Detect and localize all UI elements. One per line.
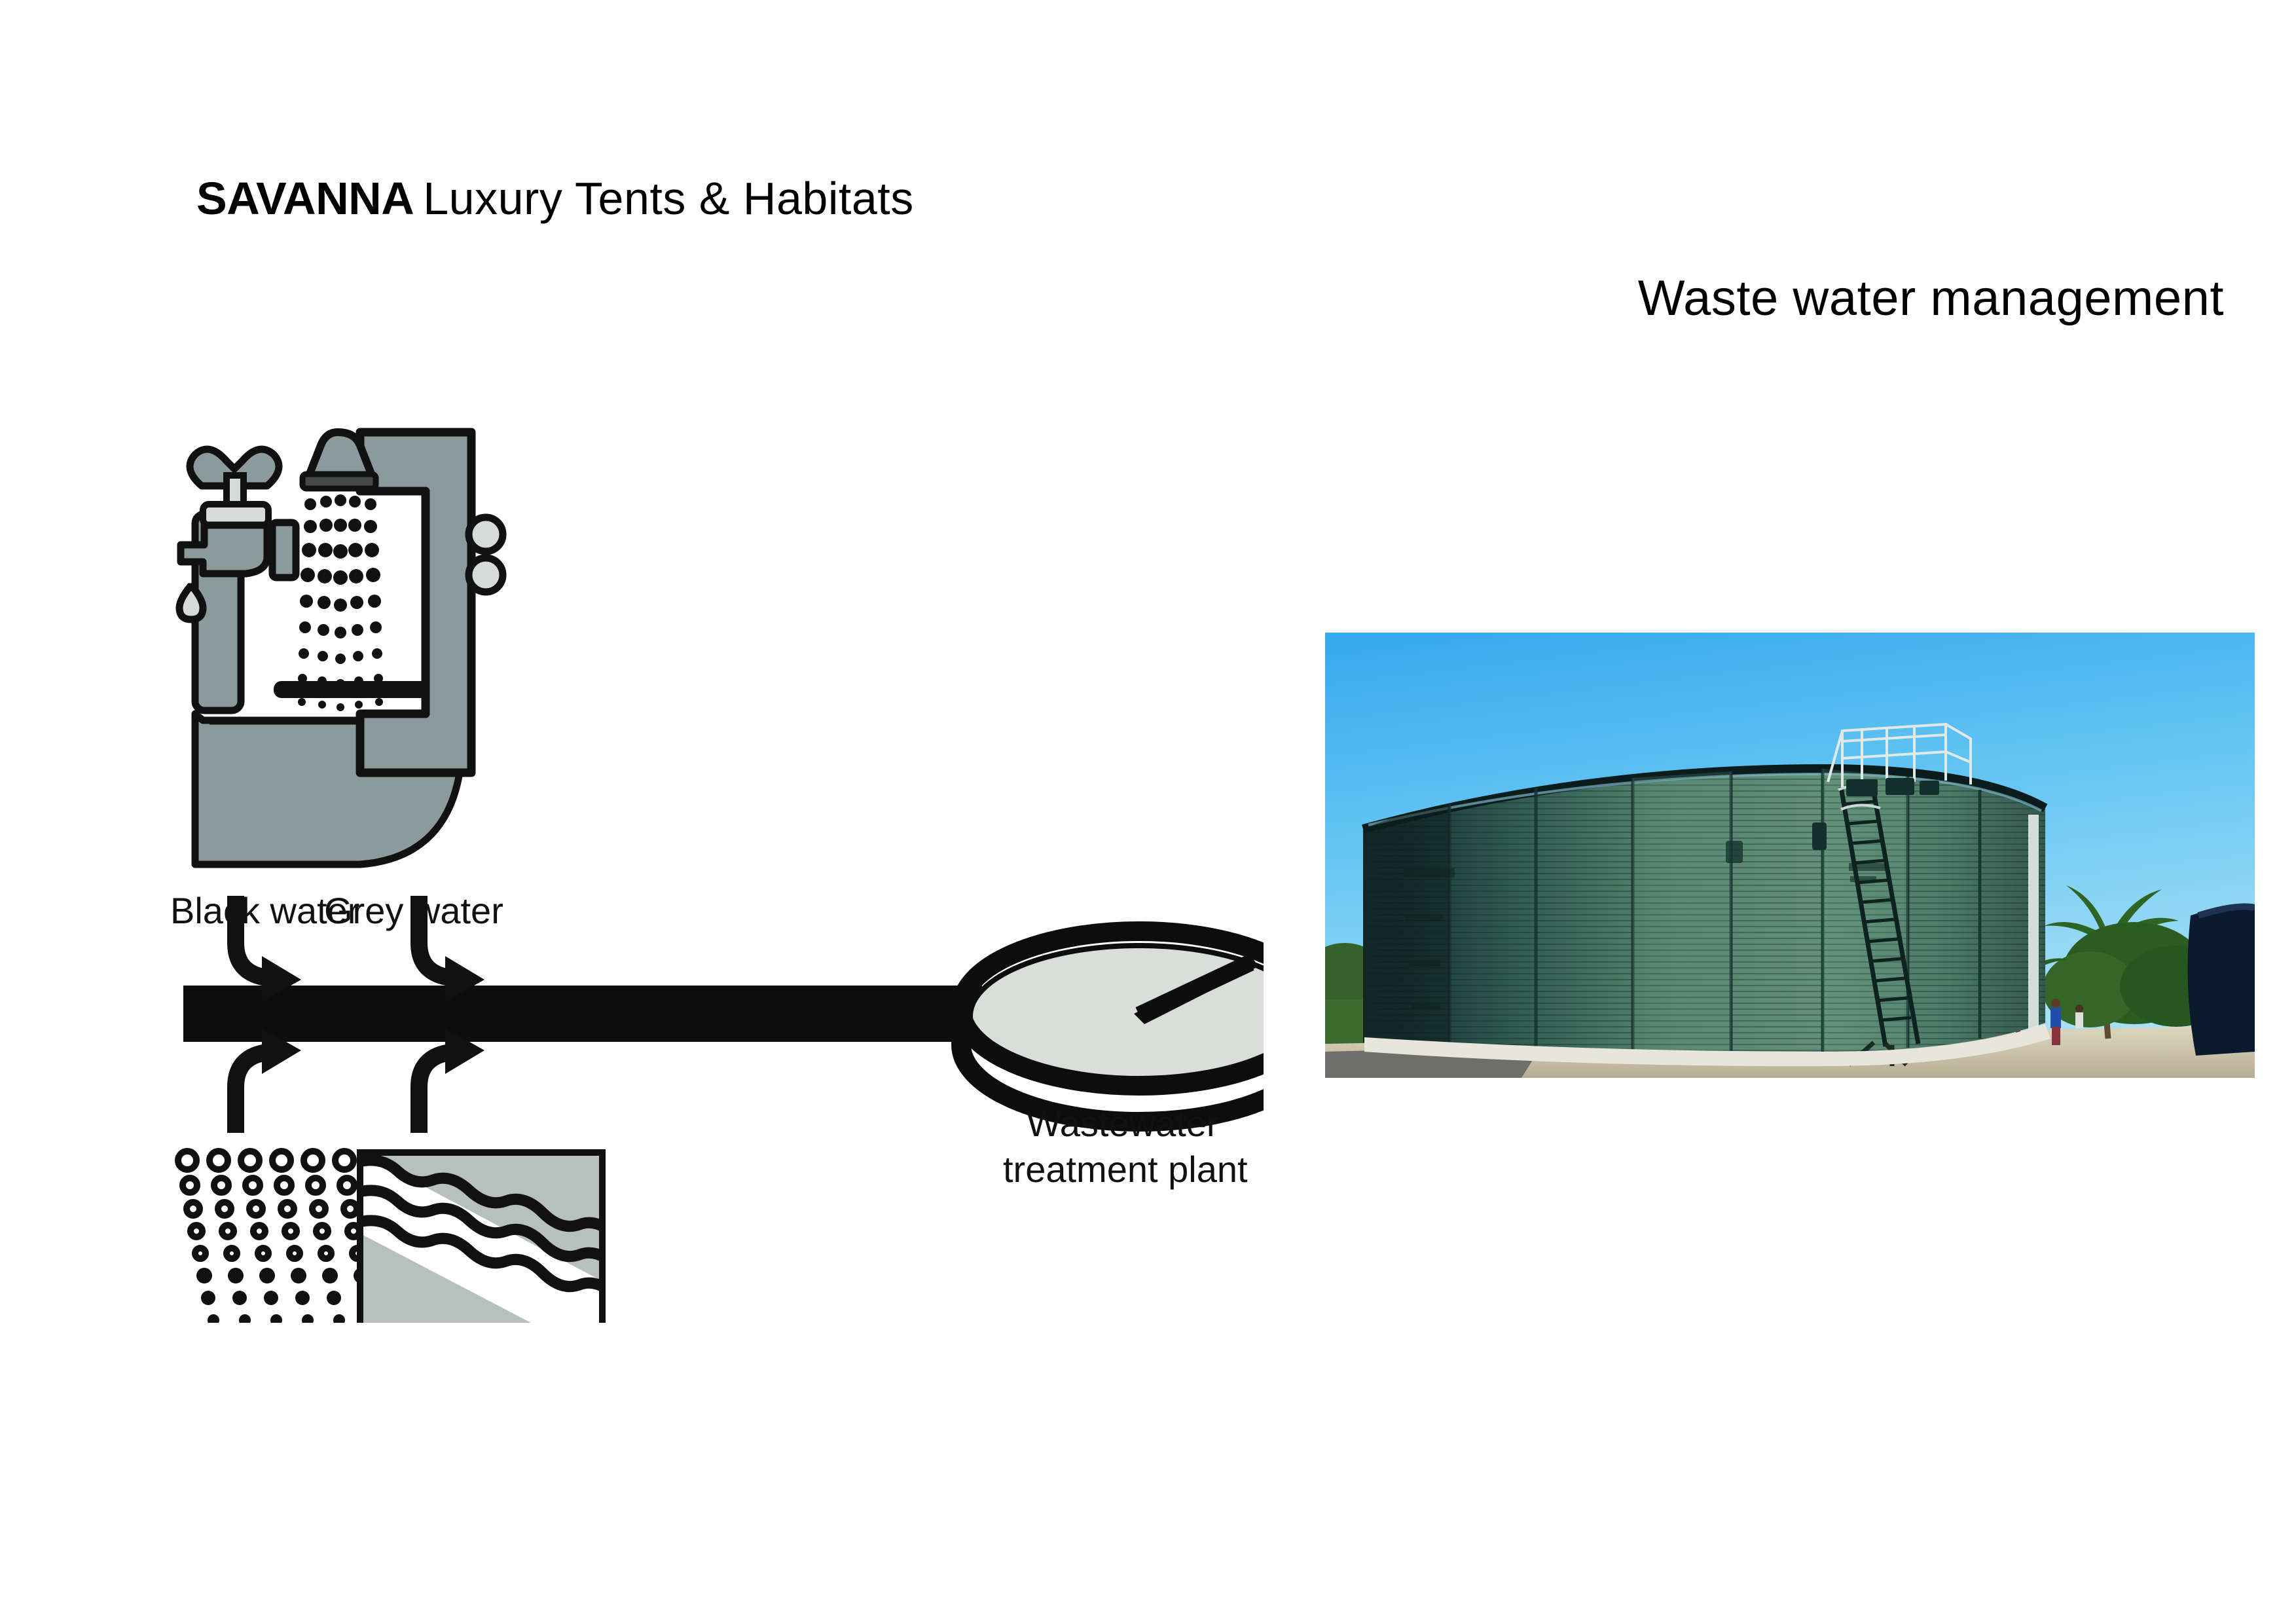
waste-water-flow-diagram: Black water xyxy=(164,406,1264,1323)
treatment-plant-label-line1: Wastewater xyxy=(1027,1103,1219,1144)
river-icon xyxy=(358,1151,619,1323)
shower-spray-icon xyxy=(298,494,383,711)
arrow-river-water-to-pipe xyxy=(419,1028,484,1133)
arrow-rainwater-to-pipe xyxy=(236,1028,301,1133)
main-collector-pipe xyxy=(183,986,982,1042)
slide-subject-heading: Waste water management xyxy=(1638,274,2224,323)
brand-tagline: Luxury Tents & Habitats xyxy=(423,173,913,224)
wastewater-tank-photo xyxy=(1325,633,2255,1078)
downpipe xyxy=(2028,815,2039,1031)
treatment-plant-label-line2: treatment plant xyxy=(1003,1149,1248,1190)
adjacent-tank xyxy=(2188,906,2255,1056)
brand-mark: SAVANNA xyxy=(196,173,414,224)
roof-equipment xyxy=(1846,778,1939,796)
storage-tank xyxy=(1363,769,2045,1054)
clarifier-tank-icon xyxy=(961,931,1264,1122)
brand-title: SAVANNALuxury Tents & Habitats xyxy=(196,175,914,221)
